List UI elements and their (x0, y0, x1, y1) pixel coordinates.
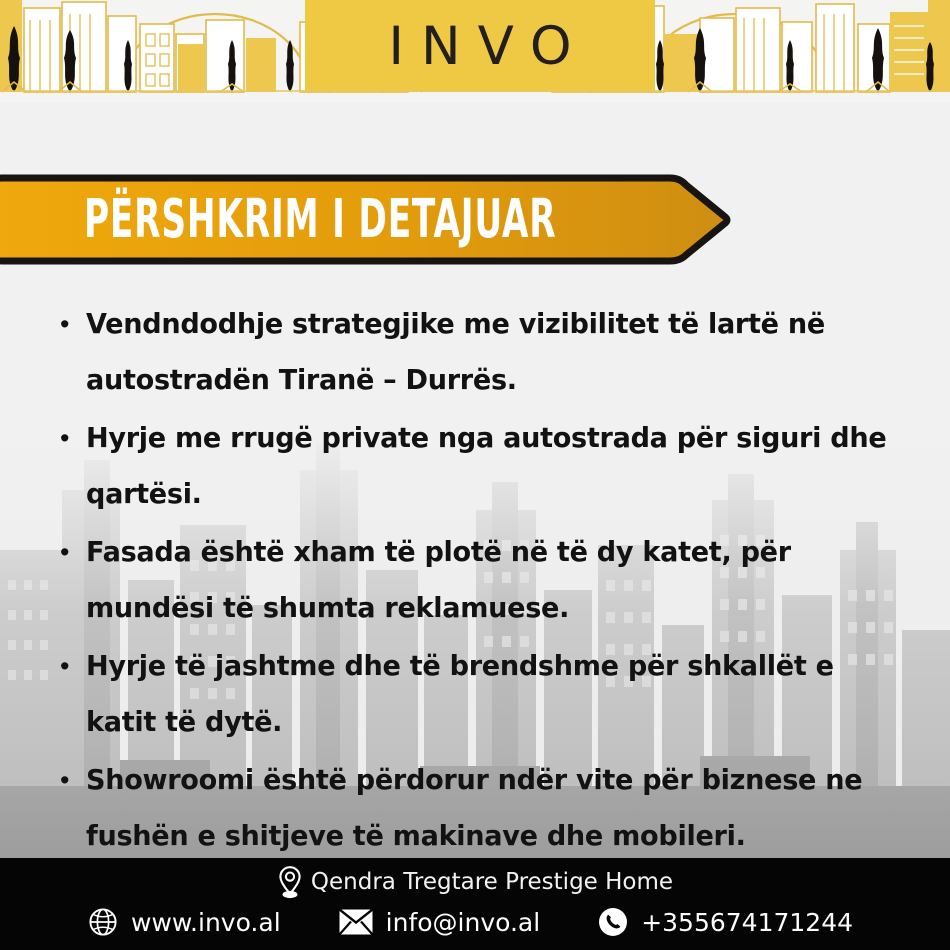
logo-panel: INVO (305, 0, 655, 92)
header-baseline-rule (0, 90, 950, 92)
list-item-text: Hyrje të jashtme dhe të brendshme për sh… (86, 638, 888, 750)
list-item: • Showroomi është përdorur ndër vite për… (60, 752, 900, 864)
list-item: • Vendndodhje strategjike me vizibilitet… (60, 296, 900, 408)
list-item: • Hyrje të jashtme dhe të brendshme për … (60, 638, 900, 750)
section-title-banner: PËRSHKRIM I DETAJUAR (0, 172, 733, 267)
list-item-text: Showroomi është përdorur ndër vite për b… (86, 752, 888, 864)
list-item: • Fasada është xham të plotë në të dy ka… (60, 524, 900, 636)
footer-address-row: Qendra Tregtare Prestige Home (0, 858, 950, 900)
detail-bullet-list: • Vendndodhje strategjike me vizibilitet… (60, 296, 900, 866)
bullet-dot-icon: • (60, 410, 86, 466)
list-item-text: Fasada është xham të plotë në të dy kate… (86, 524, 888, 636)
contact-email[interactable]: info@invo.al (339, 908, 541, 937)
list-item-text: Hyrje me rrugë private nga autostrada pë… (86, 410, 888, 522)
footer-address-text: Qendra Tregtare Prestige Home (311, 869, 673, 895)
phone-icon (598, 907, 628, 937)
list-item-text: Vendndodhje strategjike me vizibilitet t… (86, 296, 888, 408)
email-text: info@invo.al (386, 908, 541, 937)
contact-phone[interactable]: +355674171244 (598, 907, 853, 937)
phone-text: +355674171244 (641, 908, 853, 937)
location-pin-icon (277, 865, 303, 899)
header-band: INVO (0, 0, 950, 103)
bullet-dot-icon: • (60, 524, 86, 580)
footer-bar: Qendra Tregtare Prestige Home www.invo.a… (0, 858, 950, 950)
poster-page: INVO PËRSHKRIM I DETAJUAR • Vendndodhje … (0, 0, 950, 950)
list-item: • Hyrje me rrugë private nga autostrada … (60, 410, 900, 522)
brand-logo: INVO (371, 20, 588, 73)
bullet-dot-icon: • (60, 752, 86, 808)
contact-website[interactable]: www.invo.al (88, 907, 281, 937)
bullet-dot-icon: • (60, 296, 86, 352)
globe-icon (88, 907, 118, 937)
bullet-dot-icon: • (60, 638, 86, 694)
footer-contacts-row: www.invo.al info@invo.al +355674171244 (0, 900, 950, 944)
section-title-text: PËRSHKRIM I DETAJUAR (84, 162, 556, 278)
envelope-icon (339, 909, 373, 935)
website-text: www.invo.al (131, 908, 281, 937)
